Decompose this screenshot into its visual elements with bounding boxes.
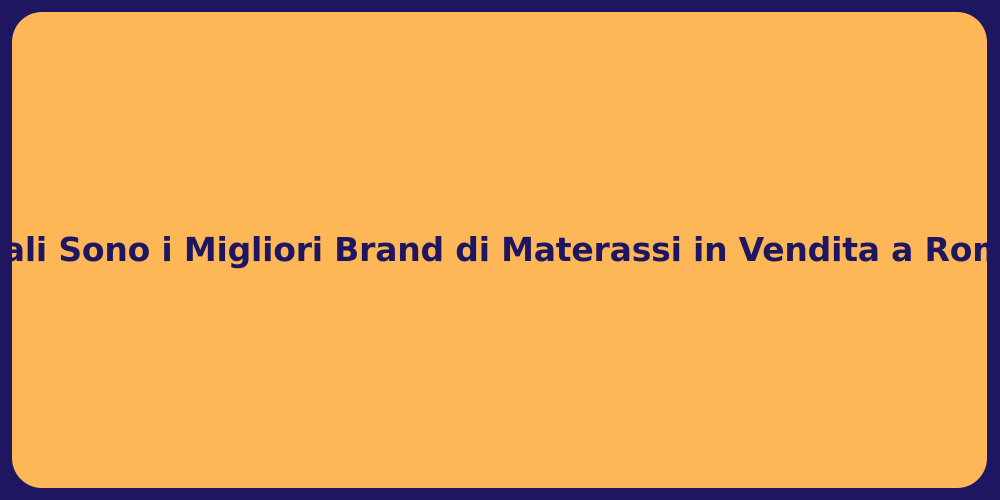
banner-frame: Quali Sono i Migliori Brand di Materassi… xyxy=(0,0,1000,500)
page-title: Quali Sono i Migliori Brand di Materassi… xyxy=(0,229,1000,272)
banner-card: Quali Sono i Migliori Brand di Materassi… xyxy=(12,12,987,488)
